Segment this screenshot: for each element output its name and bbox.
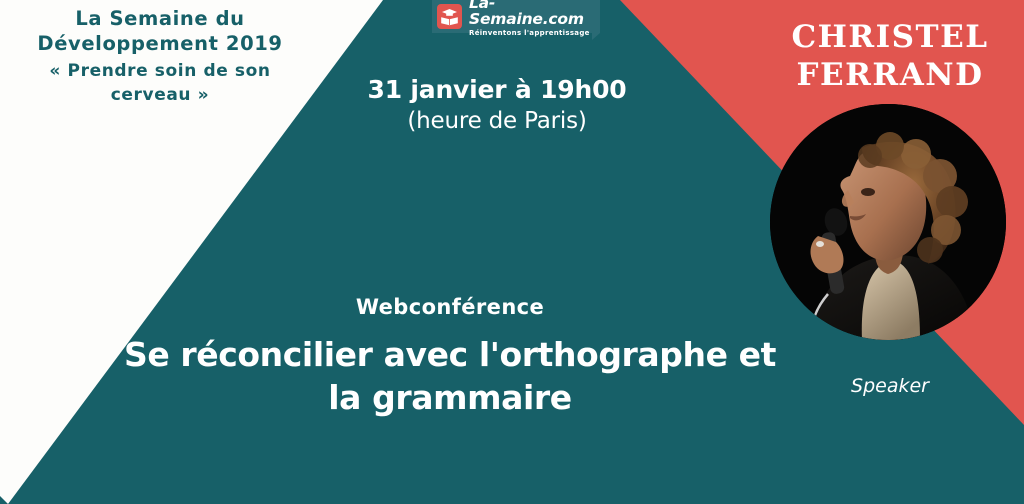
speaker-first-name: CHRISTEL — [756, 18, 1024, 56]
logo-text-group: La-Semaine.com Réinventons l'apprentissa… — [469, 0, 600, 37]
event-date: 31 janvier à 19h00 — [352, 74, 642, 106]
logo-tagline: Réinventons l'apprentissage — [469, 30, 600, 37]
conference-block: Webconférence Se réconcilier avec l'orth… — [120, 293, 780, 419]
event-heading-line4: cerveau » — [0, 83, 320, 107]
conference-title-line2: la grammaire — [328, 378, 571, 417]
speaker-last-name: FERRAND — [756, 56, 1024, 94]
event-heading: La Semaine du Développement 2019 « Prend… — [0, 6, 320, 107]
brand-logo[interactable]: La-Semaine.com Réinventons l'apprentissa… — [432, 0, 600, 33]
speaker-role-label: Speaker — [756, 375, 1024, 397]
event-heading-line2: Développement 2019 — [0, 31, 320, 56]
event-timezone: (heure de Paris) — [352, 106, 642, 136]
speaker-portrait-photo — [770, 104, 1006, 340]
logo-title: La-Semaine.com — [469, 0, 600, 27]
conference-kicker: Webconférence — [120, 293, 780, 321]
event-heading-line3: « Prendre soin de son — [0, 59, 320, 83]
graduation-book-icon — [437, 4, 462, 29]
speaker-name: CHRISTEL FERRAND — [756, 18, 1024, 94]
event-datetime: 31 janvier à 19h00 (heure de Paris) — [352, 74, 642, 136]
webinar-poster: La Semaine du Développement 2019 « Prend… — [0, 0, 1024, 504]
conference-title: Se réconcilier avec l'orthographe et la … — [120, 333, 780, 419]
event-heading-line1: La Semaine du — [0, 6, 320, 31]
conference-title-line1: Se réconcilier avec l'orthographe et — [124, 335, 776, 374]
